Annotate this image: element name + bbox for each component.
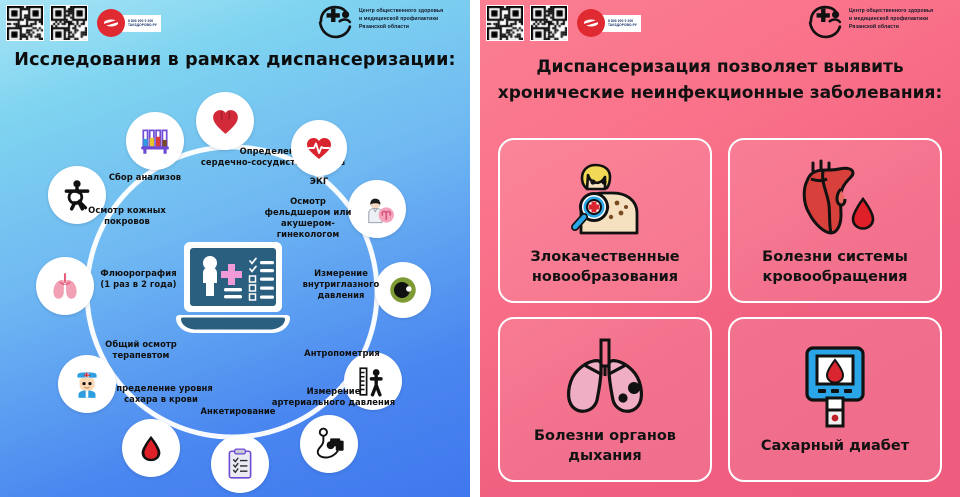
heart-ecg-icon [303,132,335,164]
left-panel: 8 800 200 0 200 ТАКЗДОРОВО.РУ [0,0,470,497]
right-header: 8 800 200 0 200 ТАКЗДОРОВО.РУ [480,0,960,46]
no-smoking-icon [577,9,605,37]
diagnostics-circle-diagram: Сбор анализов Определениесердечно-сосуди… [0,0,470,497]
infographic-root: 8 800 200 0 200 ТАКЗДОРОВО.РУ [0,0,960,497]
glucometer-icon [793,341,877,433]
label-vnutriglaznoe-davlenie: Измерениевнутриглазногодавления [296,268,386,301]
qr-code-2-right [530,5,568,41]
logo-text-block-right: Центр общественного здоровья и медицинск… [849,4,933,32]
test-tubes-icon [138,124,172,158]
card-label-zlokachestvennye: Злокачественныеновообразования [530,248,679,286]
right-title-line-1: Диспансеризация позволяет выявить [494,55,946,81]
node-obshchiy-osmotr[interactable] [58,355,116,413]
label-anketirovanie: Анкетирование [178,406,298,417]
label-sbor-analizov: Сбор анализов [90,172,200,183]
label-arterialnoe-davlenie: Измерениеартериального давления [266,386,401,408]
node-anketirovanie[interactable] [211,435,269,493]
laptop-medical-record-icon [168,238,298,351]
node-uroven-sahara[interactable] [122,419,180,477]
card-label-krovoobrashcheniya: Болезни системыкровообращения [762,248,908,286]
organisation-logo-right: Центр общественного здоровья и медицинск… [806,4,933,40]
label-ekg: ЭКГ [289,176,349,187]
eye-icon [386,273,420,307]
label-osmotr-feldsherom: Осмотрфельдшером илиакушером-гинекологом [258,196,358,240]
card-organov-dyhaniya[interactable]: Болезни органовдыхания [498,317,712,482]
no-smoking-icon [97,9,125,37]
logo-line-1-right: Центр общественного здоровья [849,8,933,16]
health-center-logo-icon [806,4,844,40]
hotline-badge-group-right: 8 800 200 0 200 ТАКЗДОРОВО.РУ [577,9,641,37]
disease-cards-grid: Злокачественныеновообразования Болезни с… [498,138,942,482]
card-label-saharnyy-diabet: Сахарный диабет [761,437,909,456]
right-title-line-2: хронические неинфекционные заболевания: [494,81,946,107]
heart-anatomical-icon [209,105,242,138]
qr-code-1-right [486,5,524,41]
card-saharnyy-diabet[interactable]: Сахарный диабет [728,317,942,482]
hotline-phone-plate-right: 8 800 200 0 200 ТАКЗДОРОВО.РУ [599,15,641,32]
node-serdechno-sosudistye-riski[interactable] [196,92,254,150]
node-sbor-analizov[interactable] [126,112,184,170]
node-arterialnoe-davlenie[interactable] [300,415,358,473]
lungs-disease-icon [550,331,660,423]
tonometer-icon [311,426,347,462]
label-antropometriya: Антропометрия [292,348,392,359]
node-ekg[interactable] [291,120,347,176]
skin-cancer-magnifier-icon [551,152,659,244]
card-krovoobrashcheniya[interactable]: Болезни системыкровообращения [728,138,942,303]
logo-line-2-right: и медицинской профилактики [849,16,933,24]
right-page-title: Диспансеризация позволяет выявить хронич… [494,55,946,106]
gynecologist-icon [360,192,395,227]
heart-blood-drop-icon [783,152,887,244]
logo-line-3-right: Рязанской области [849,24,933,32]
hotline-site-right: ТАКЗДОРОВО.РУ [608,23,637,27]
panel-divider [470,0,480,497]
right-panel: 8 800 200 0 200 ТАКЗДОРОВО.РУ [480,0,960,497]
blood-drop-icon [136,433,166,463]
label-osmotr-kozhnyh: Осмотр кожныхпокровов [72,205,182,227]
clipboard-checklist-icon [223,447,257,481]
doctor-icon [70,367,104,401]
card-zlokachestvennye[interactable]: Злокачественныеновообразования [498,138,712,303]
card-label-organov-dyhaniya: Болезни органовдыхания [534,427,676,465]
